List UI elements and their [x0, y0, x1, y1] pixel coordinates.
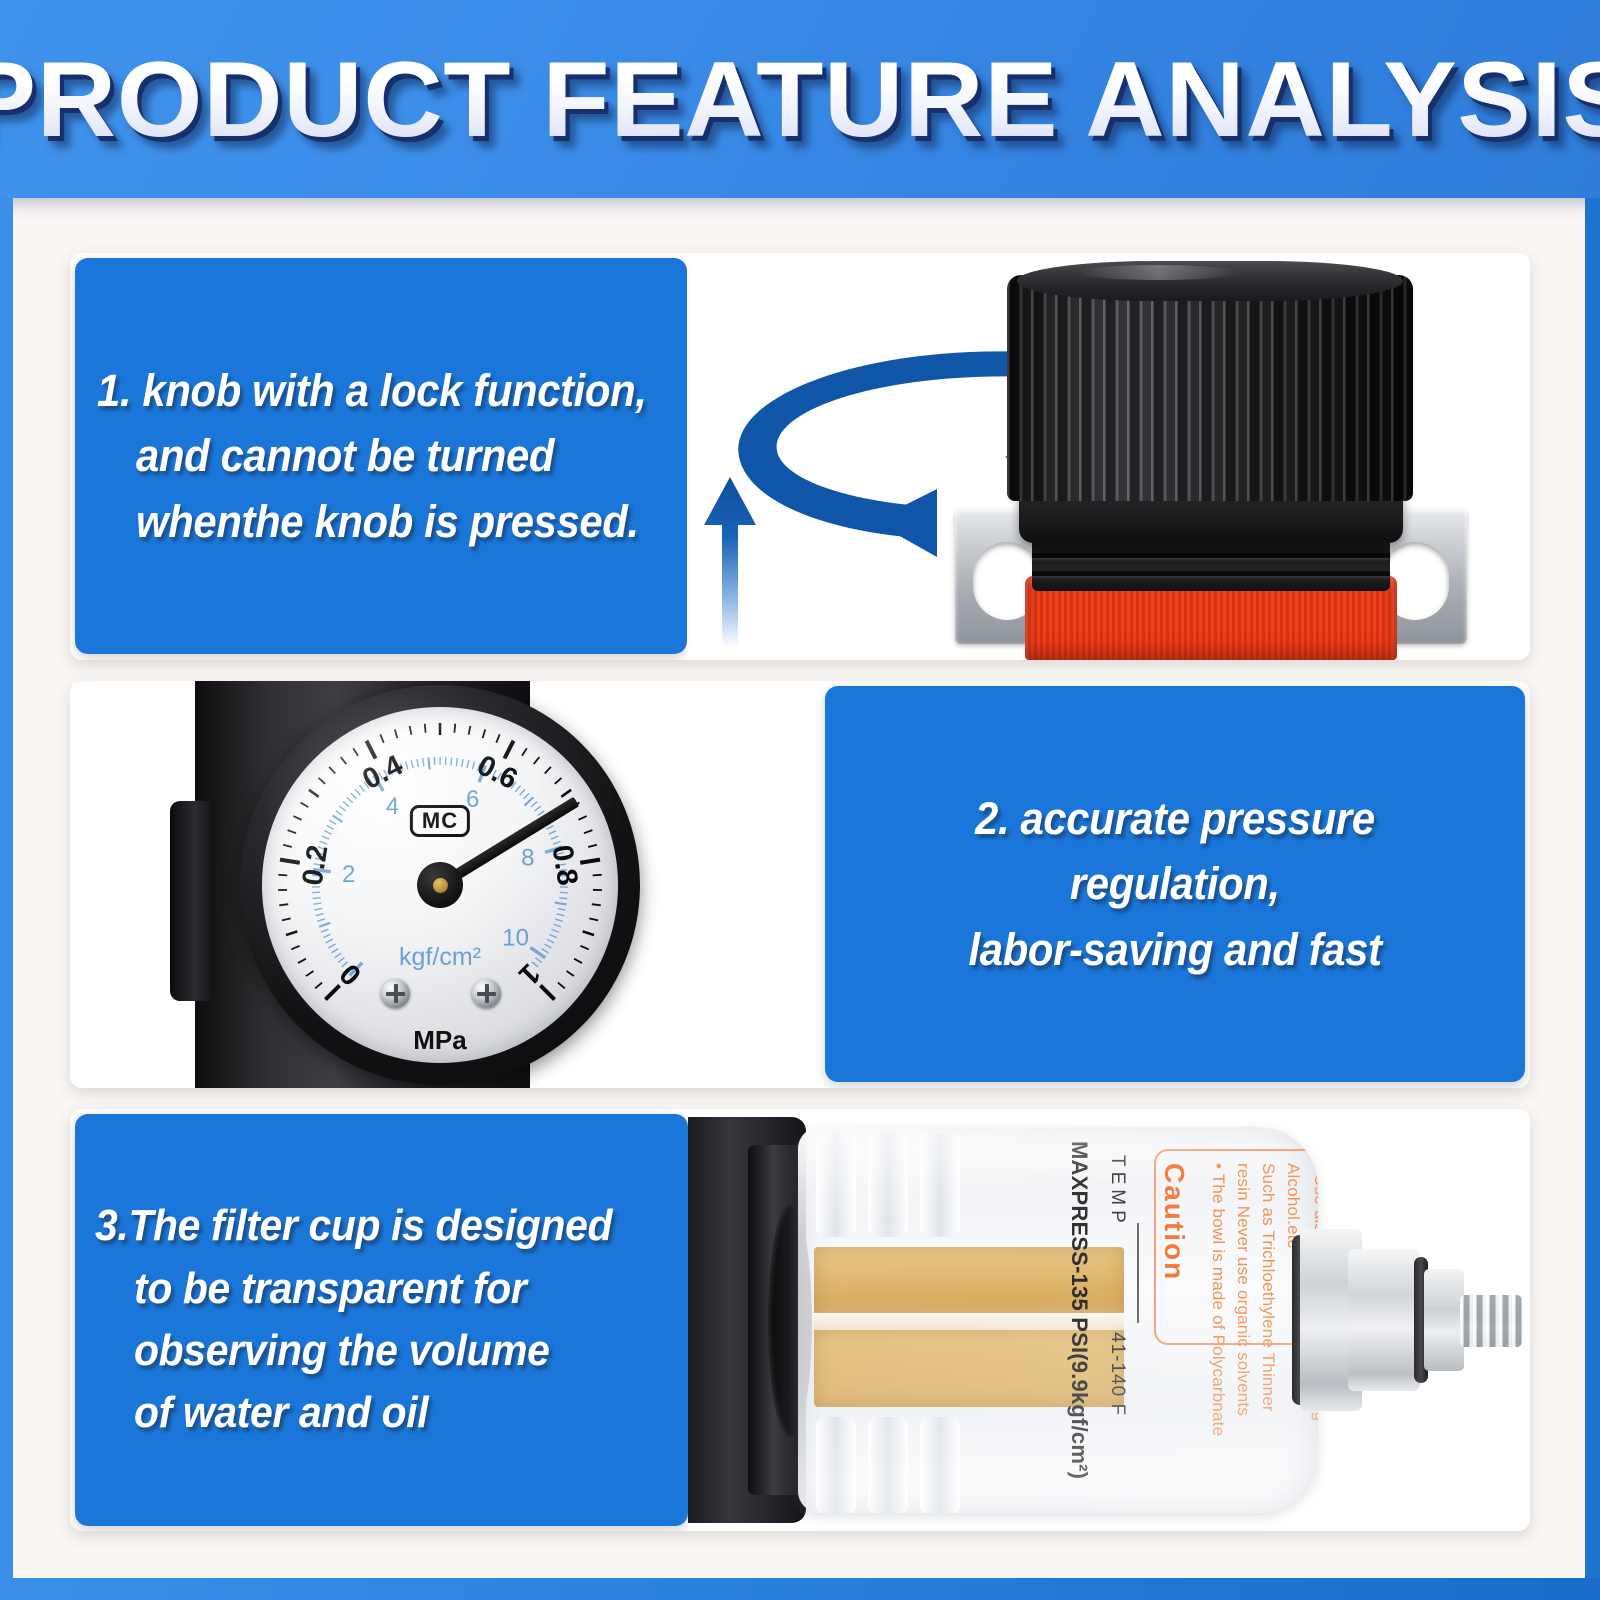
svg-text:2: 2	[342, 861, 355, 888]
gauge-unit-kgf: kgf/cm²	[399, 943, 481, 972]
svg-text:0.6: 0.6	[472, 749, 522, 796]
feature-3-line-4: of water and oil	[95, 1382, 646, 1444]
filter-housing-head	[688, 1117, 806, 1523]
svg-text:0.8: 0.8	[545, 843, 583, 888]
feature-panel-3: 3.The filter cup is designed to be trans…	[70, 1109, 1530, 1531]
drain-barb-nipple[interactable]	[1460, 1295, 1522, 1347]
feature-2-line-2: regulation,	[1070, 851, 1280, 916]
gauge-dial-face: 00.20.40.60.81 246810 MC kgf/cm² MPa	[262, 707, 618, 1063]
knob-top-highlight	[1079, 265, 1239, 280]
feature-2-line-1: 2. accurate pressure	[975, 786, 1375, 851]
page-title: PRODUCT FEATURE ANALYSIS	[0, 37, 1600, 161]
feature-1-line-3: whenthe knob is pressed.	[97, 489, 646, 554]
gauge-bezel: 00.20.40.60.81 246810 MC kgf/cm² MPa	[240, 685, 640, 1085]
pressure-gauge-photo: 00.20.40.60.81 246810 MC kgf/cm² MPa	[70, 681, 870, 1088]
feature-1-text-card: 1. knob with a lock function, and cannot…	[75, 258, 687, 654]
gauge-hub-pin	[433, 878, 448, 893]
feature-3-line-1: 3.The filter cup is designed	[95, 1195, 646, 1257]
regulator-bracket-tab	[170, 801, 214, 1001]
filter-bowl-photo: MAXPRESS-135 PSI(9.9kgf/cm²) TEMP 41-140…	[688, 1109, 1530, 1531]
feature-panel-1: 1. knob with a lock function, and cannot…	[70, 253, 1530, 660]
bottom-edge-stripe	[0, 1578, 1600, 1600]
gauge-screw-left	[381, 979, 410, 1008]
feature-1-line-2: and cannot be turned	[97, 423, 646, 488]
gauge-unit-mpa: MPa	[413, 1025, 466, 1056]
gauge-screw-right	[472, 979, 501, 1008]
drain-shoulder	[1424, 1269, 1464, 1371]
adjustment-knob-photo	[687, 253, 1530, 660]
transparent-filter-bowl: MAXPRESS-135 PSI(9.9kgf/cm²) TEMP 41-140…	[798, 1127, 1318, 1513]
feature-3-line-3: observing the volume	[95, 1320, 646, 1382]
svg-text:0.4: 0.4	[358, 749, 408, 796]
left-edge-stripe	[0, 198, 13, 1600]
feature-panel-2: 00.20.40.60.81 246810 MC kgf/cm² MPa 2. …	[70, 681, 1530, 1088]
feature-3-line-2: to be transparent for	[95, 1258, 646, 1320]
feature-1-line-1: 1. knob with a lock function,	[97, 358, 646, 423]
svg-text:8: 8	[521, 845, 534, 872]
right-edge-stripe	[1585, 198, 1600, 1600]
svg-text:10: 10	[502, 924, 529, 951]
push-up-arrow-icon	[700, 473, 760, 648]
feature-2-text-card: 2. accurate pressure regulation, labor-s…	[825, 686, 1525, 1082]
gauge-brand-logo: MC	[410, 805, 470, 837]
bowl-glass-reflection	[798, 1127, 1318, 1513]
gauge-needle-hub	[417, 862, 463, 908]
feature-2-line-3: labor-saving and fast	[968, 917, 1381, 982]
svg-text:4: 4	[386, 793, 399, 820]
feature-3-text-card: 3.The filter cup is designed to be trans…	[75, 1114, 688, 1526]
knob-ribbed-body[interactable]	[1007, 275, 1413, 501]
page-header: PRODUCT FEATURE ANALYSIS	[0, 0, 1600, 198]
svg-text:0.2: 0.2	[297, 843, 335, 888]
drain-body	[1348, 1249, 1420, 1391]
